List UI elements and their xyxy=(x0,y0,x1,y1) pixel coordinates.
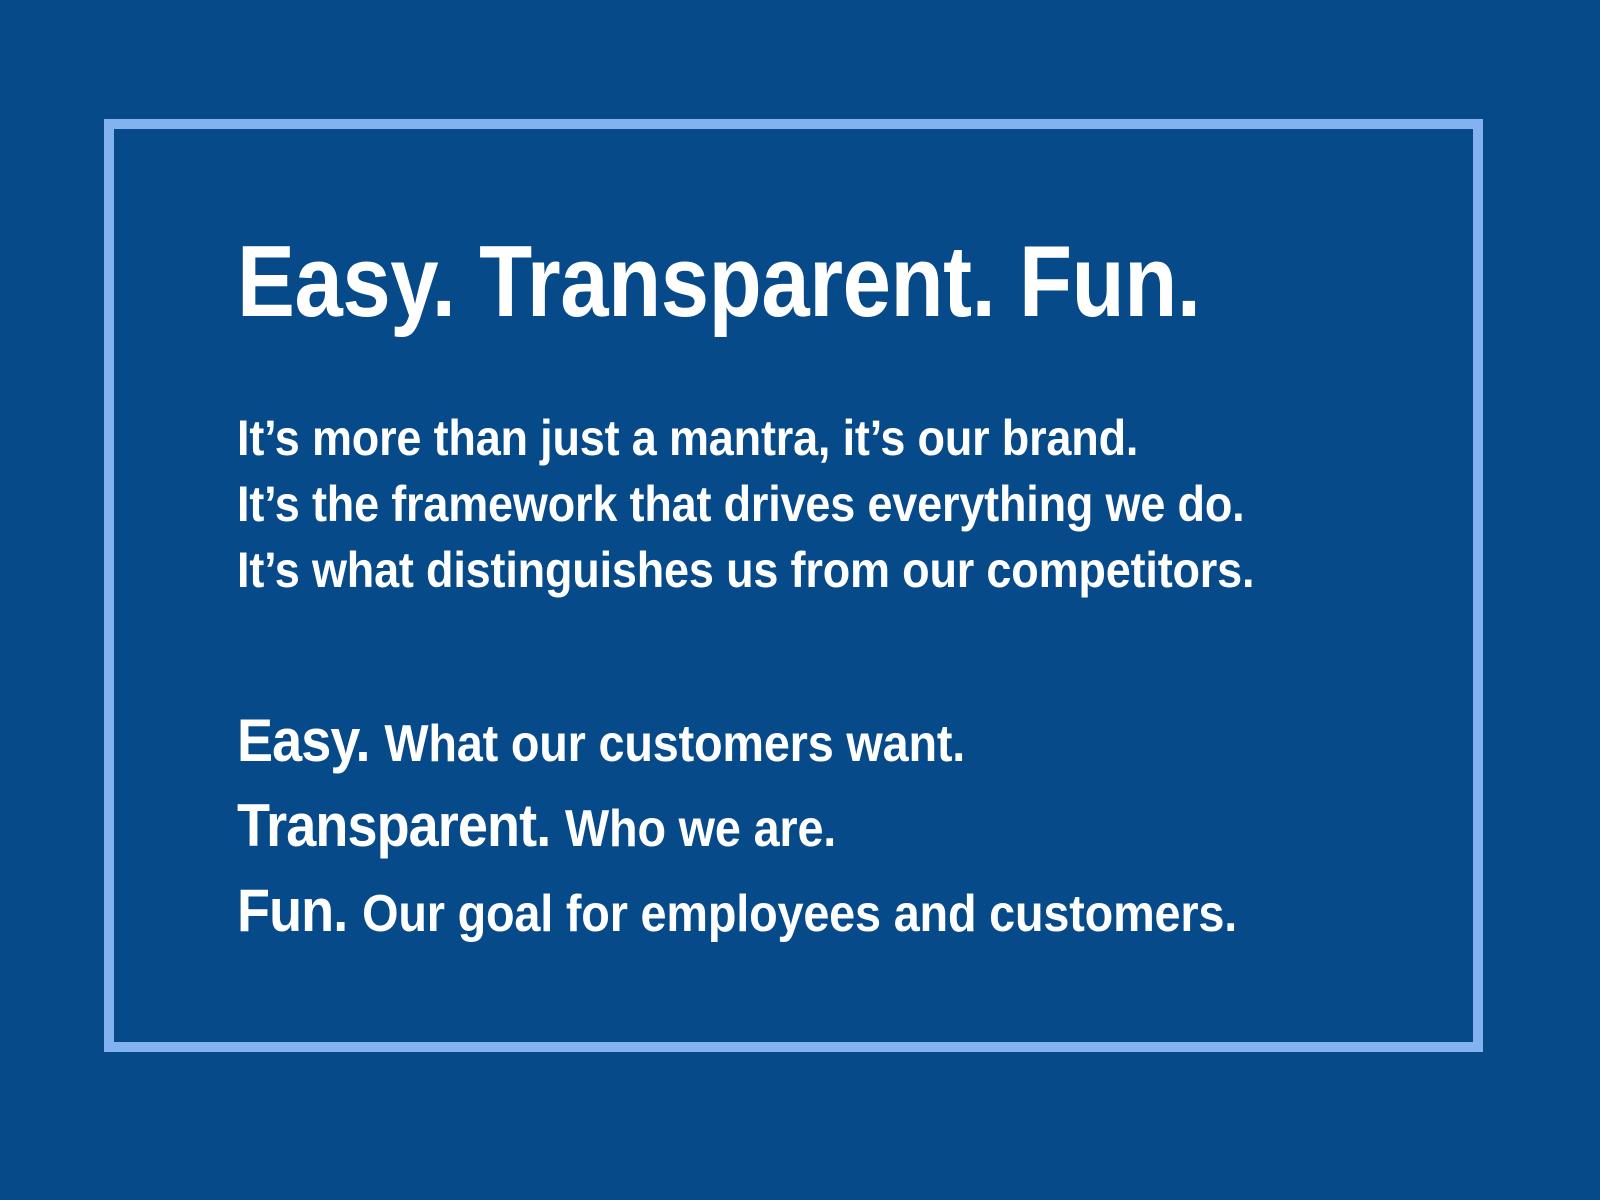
intro-line: It’s what distinguishes us from our comp… xyxy=(237,537,1299,603)
definition-description: Our goal for employees and customers. xyxy=(362,885,1237,943)
definition-description: What our customers want. xyxy=(384,715,965,773)
definition-item: Easy. What our customers want. xyxy=(237,700,1299,785)
intro-paragraph: It’s more than just a mantra, it’s our b… xyxy=(237,405,1299,603)
intro-line: It’s the framework that drives everythin… xyxy=(237,471,1299,537)
definitions-list: Easy. What our customers want. Transpare… xyxy=(237,700,1299,955)
page-title: Easy. Transparent. Fun. xyxy=(237,232,1252,333)
brand-mantra-slide: Easy. Transparent. Fun. It’s more than j… xyxy=(0,0,1600,1200)
intro-line: It’s more than just a mantra, it’s our b… xyxy=(237,405,1299,471)
definition-description: Who we are. xyxy=(565,800,836,858)
slide-content: Easy. Transparent. Fun. It’s more than j… xyxy=(237,232,1417,955)
definition-term: Easy. xyxy=(237,707,370,774)
definition-item: Transparent. Who we are. xyxy=(237,785,1299,870)
definition-item: Fun. Our goal for employees and customer… xyxy=(237,870,1299,955)
definition-term: Transparent. xyxy=(237,792,550,859)
definition-term: Fun. xyxy=(237,877,347,944)
